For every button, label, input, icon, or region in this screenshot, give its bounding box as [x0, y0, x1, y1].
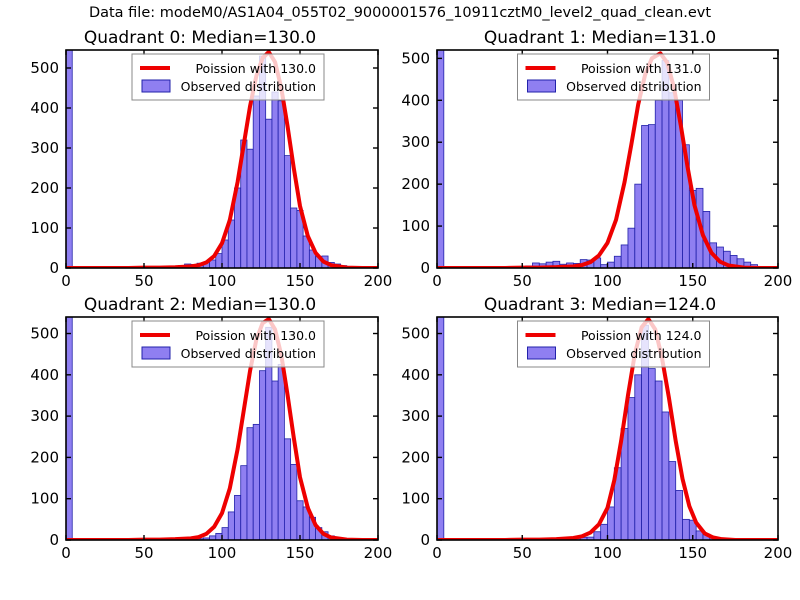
x-tick-label: 50: [134, 272, 153, 290]
histogram-bar: [278, 364, 284, 540]
x-tick-label: 0: [61, 272, 71, 290]
legend-label-poisson: Poission with 130.0: [195, 61, 316, 76]
x-tick-label: 200: [364, 272, 393, 290]
histogram-bar: [66, 50, 72, 268]
x-tick-label: 150: [678, 272, 707, 290]
y-tick-label: 0: [49, 259, 59, 277]
subplot-quadrant-1: Quadrant 1: Median=131.0 050100150200010…: [400, 28, 800, 298]
histogram-bar: [241, 466, 247, 540]
y-tick-label: 0: [49, 531, 59, 549]
x-tick-label: 50: [513, 272, 532, 290]
legend[interactable]: Poission with 130.0Observed distribution: [132, 321, 324, 367]
x-tick-label: 100: [593, 544, 622, 562]
histogram-bar: [272, 381, 278, 540]
legend-label-poisson: Poission with 124.0: [581, 328, 702, 343]
y-tick-label: 500: [30, 325, 59, 343]
histogram-bar: [635, 184, 642, 268]
x-tick-label: 200: [764, 272, 793, 290]
legend-label-observed: Observed distribution: [566, 346, 701, 361]
y-tick-label: 400: [401, 91, 430, 109]
x-tick-label: 200: [364, 544, 393, 562]
histogram-bar: [272, 92, 278, 268]
x-tick-label: 150: [678, 544, 707, 562]
histogram-bar: [284, 156, 290, 268]
histogram-bar: [683, 519, 690, 540]
y-tick-label: 300: [30, 139, 59, 157]
histogram-bar: [655, 381, 662, 540]
y-tick-label: 300: [401, 133, 430, 151]
y-tick-label: 0: [420, 259, 430, 277]
subplot-quadrant-0: Quadrant 0: Median=130.0 050100150200010…: [0, 28, 400, 298]
histogram-bar: [253, 424, 259, 540]
y-tick-label: 400: [30, 99, 59, 117]
histogram-bar: [216, 533, 222, 540]
y-tick-label: 0: [420, 531, 430, 549]
legend-label-poisson: Poission with 131.0: [581, 61, 702, 76]
histogram-bar: [266, 119, 272, 268]
figure-canvas: Data file: modeM0/AS1A04_055T02_90000015…: [0, 0, 800, 600]
y-tick-label: 500: [401, 325, 430, 343]
legend-label-observed: Observed distribution: [181, 346, 316, 361]
histogram-bar: [648, 369, 655, 540]
histogram-bar: [614, 256, 621, 268]
histogram-bar: [669, 462, 676, 540]
histogram-bar: [216, 254, 222, 268]
plot-area-quadrant-0: 0501001502000100200300400500Poission wit…: [0, 28, 400, 298]
y-tick-label: 400: [401, 366, 430, 384]
y-tick-label: 300: [401, 407, 430, 425]
histogram-bar: [628, 228, 635, 268]
histogram-bar: [601, 524, 608, 540]
x-tick-label: 0: [61, 544, 71, 562]
legend-label-observed: Observed distribution: [181, 79, 316, 94]
plot-area-quadrant-2: 0501001502000100200300400500Poission wit…: [0, 295, 400, 570]
y-tick-label: 400: [30, 366, 59, 384]
y-tick-label: 100: [401, 217, 430, 235]
histogram-bar: [648, 125, 655, 268]
histogram-bar: [247, 149, 253, 268]
plot-area-quadrant-3: 0501001502000100200300400500Poission wit…: [400, 295, 800, 570]
histogram-bar: [291, 208, 297, 268]
y-tick-label: 200: [30, 179, 59, 197]
histogram-bar: [642, 125, 649, 268]
histogram-bar: [655, 100, 662, 268]
legend[interactable]: Poission with 124.0Observed distribution: [518, 321, 710, 367]
histogram-bar: [66, 317, 72, 540]
x-tick-label: 100: [208, 272, 237, 290]
x-tick-label: 0: [432, 272, 442, 290]
y-tick-label: 500: [401, 49, 430, 67]
legend-label-observed: Observed distribution: [566, 79, 701, 94]
histogram-bar: [635, 375, 642, 540]
x-tick-label: 100: [593, 272, 622, 290]
histogram-bar: [437, 317, 444, 540]
x-tick-label: 0: [432, 544, 442, 562]
histogram-bar: [608, 507, 615, 540]
y-tick-label: 100: [401, 490, 430, 508]
y-tick-label: 500: [30, 59, 59, 77]
histogram-bar: [222, 528, 228, 540]
figure-suptitle: Data file: modeM0/AS1A04_055T02_90000015…: [0, 5, 800, 21]
y-tick-label: 200: [30, 448, 59, 466]
x-tick-label: 200: [764, 544, 793, 562]
histogram-bar: [259, 371, 265, 540]
histogram-bar: [628, 398, 635, 540]
histogram-bar: [669, 93, 676, 268]
x-tick-label: 50: [513, 544, 532, 562]
x-tick-label: 150: [286, 272, 315, 290]
y-tick-label: 300: [30, 407, 59, 425]
histogram-bar: [594, 532, 601, 540]
histogram-bar: [676, 490, 683, 540]
histogram-bar: [291, 464, 297, 540]
x-tick-label: 100: [208, 544, 237, 562]
histogram-bar: [662, 412, 669, 540]
plot-area-quadrant-1: 0501001502000100200300400500Poission wit…: [400, 28, 800, 298]
x-tick-label: 50: [134, 544, 153, 562]
y-tick-label: 200: [401, 448, 430, 466]
histogram-bar: [228, 512, 234, 540]
histogram-bar: [608, 262, 615, 268]
histogram-bar: [297, 501, 303, 540]
y-tick-label: 200: [401, 175, 430, 193]
x-tick-label: 150: [286, 544, 315, 562]
legend-label-poisson: Poission with 130.0: [195, 328, 316, 343]
legend[interactable]: Poission with 130.0Observed distribution: [132, 54, 324, 100]
histogram-bar: [284, 439, 290, 540]
histogram-bar: [253, 96, 259, 268]
histogram-bar: [437, 50, 444, 268]
subplot-quadrant-2: Quadrant 2: Median=130.0 050100150200010…: [0, 295, 400, 570]
histogram-bar: [247, 428, 253, 540]
y-tick-label: 100: [30, 219, 59, 237]
histogram-bar: [234, 495, 240, 540]
histogram-bar: [621, 245, 628, 268]
histogram-bar: [278, 101, 284, 268]
legend[interactable]: Poission with 131.0Observed distribution: [518, 54, 710, 100]
y-tick-label: 100: [30, 490, 59, 508]
subplot-quadrant-3: Quadrant 3: Median=124.0 050100150200010…: [400, 295, 800, 570]
